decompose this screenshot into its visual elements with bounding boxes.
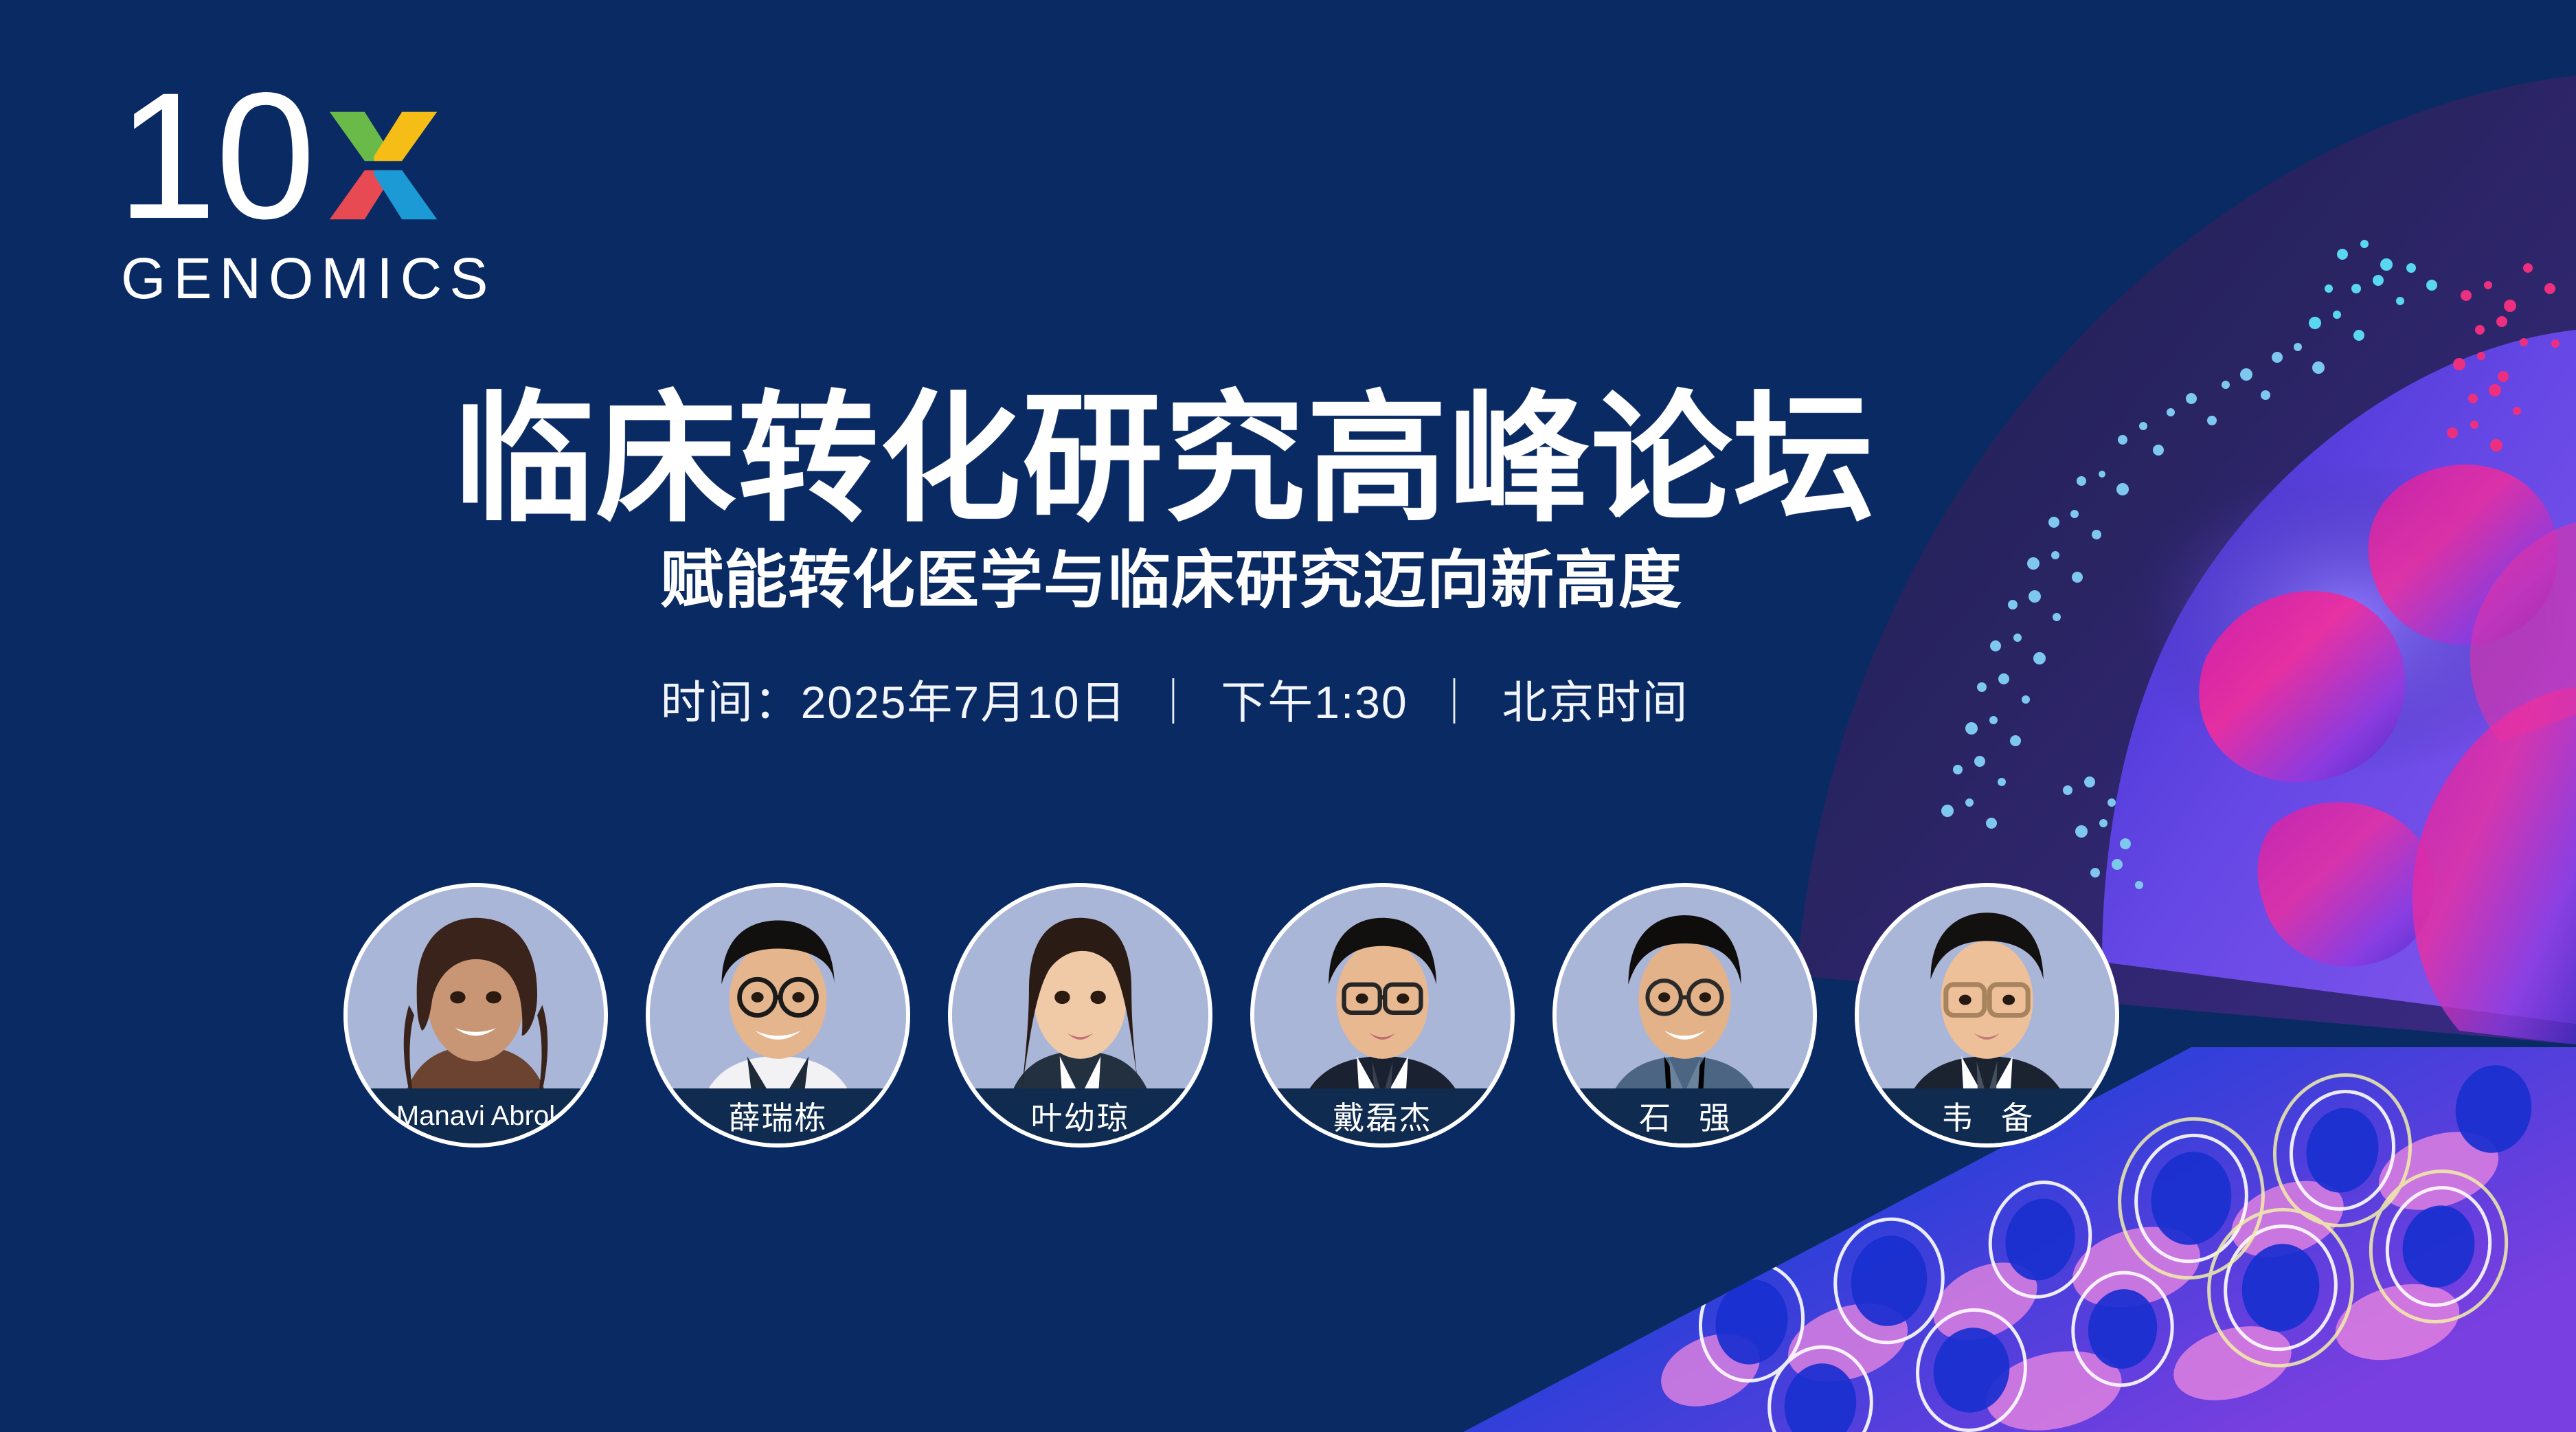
speaker-list: Manavi Abrol 薛瑞栋: [343, 883, 2119, 1148]
speaker-avatar[interactable]: 戴磊杰: [1250, 883, 1515, 1148]
x-icon: [325, 107, 442, 227]
speaker-name-band: 叶幼琼: [952, 1088, 1208, 1143]
speaker-name: Manavi Abrol: [396, 1101, 555, 1132]
speaker-name-band: 石 强: [1557, 1088, 1813, 1143]
speaker-name-band: 薛瑞栋: [650, 1088, 906, 1143]
speaker-name: 石 强: [1629, 1093, 1740, 1139]
logo-number: 10: [117, 82, 314, 230]
speaker-avatar[interactable]: 石 强: [1552, 883, 1817, 1148]
speaker-name: 韦 备: [1932, 1093, 2042, 1139]
speaker-name: 薛瑞栋: [729, 1093, 828, 1139]
speaker-name-band: 韦 备: [1859, 1088, 2115, 1143]
speaker-name: 叶幼琼: [1031, 1093, 1130, 1139]
speaker-avatar[interactable]: Manavi Abrol: [343, 883, 608, 1148]
speaker-avatar[interactable]: 薛瑞栋: [646, 883, 910, 1148]
speaker-name: 戴磊杰: [1333, 1093, 1432, 1139]
speaker-name-band: Manavi Abrol: [348, 1088, 604, 1143]
webinar-banner: 10 GENOMICS 临床转化研究高峰论坛 赋能转化医学与临床研究迈向新高度 …: [0, 0, 2576, 1432]
brand-logo: 10 GENOMICS: [117, 82, 474, 312]
speaker-avatar[interactable]: 叶幼琼: [948, 883, 1212, 1148]
speaker-name-band: 戴磊杰: [1254, 1088, 1511, 1143]
speaker-avatar[interactable]: 韦 备: [1855, 883, 2119, 1148]
logo-wordmark: GENOMICS: [121, 245, 474, 312]
